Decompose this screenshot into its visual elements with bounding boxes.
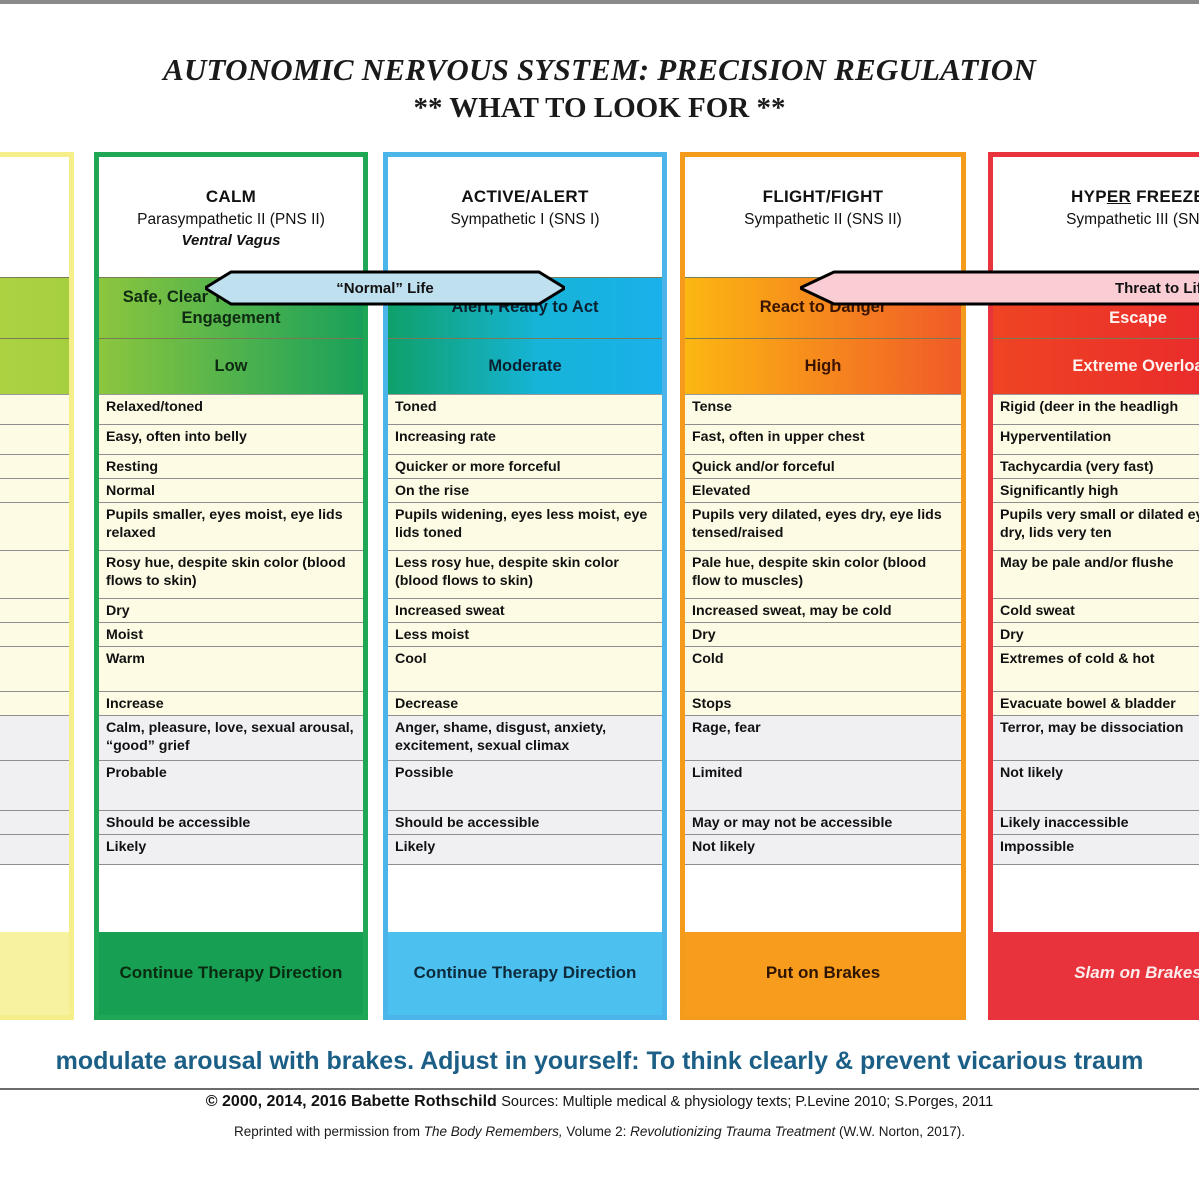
page-title: AUTONOMIC NERVOUS SYSTEM: PRECISION REGU… (0, 52, 1199, 125)
table-cell: Quicker or more forceful (388, 455, 662, 479)
table-cell: Pupils smaller, eyes moist, eye lids rel… (99, 503, 363, 551)
rows-active-alert: Toned Increasing rate Quicker or more fo… (388, 395, 662, 865)
column-subtitle-calm: Parasympathetic II (PNS II) (99, 211, 363, 229)
table-cell: Not likely (993, 761, 1199, 811)
column-italic-calm: Ventral Vagus (99, 232, 363, 249)
column-pns1[interactable]: PNS I) ion e heavy isgust sible nergy (0, 152, 74, 1020)
table-cell: On the rise (388, 479, 662, 503)
arousal-band-active-alert: Moderate (388, 339, 662, 395)
column-title-flight-fight: FLIGHT/FIGHT (685, 187, 961, 207)
table-cell: Warm (99, 647, 363, 692)
column-header-active-alert: ACTIVE/ALERT Sympathetic I (SNS I) (388, 157, 662, 277)
table-cell: e heavy (0, 503, 69, 551)
table-cell: May or may not be accessible (685, 811, 961, 835)
sources-text: Sources: Multiple medical & physiology t… (501, 1094, 993, 1110)
table-cell: Evacuate bowel & bladder (993, 692, 1199, 716)
table-cell: Normal (99, 479, 363, 503)
normal-life-arrow: “Normal” Life (205, 268, 565, 308)
column-title-active-alert: ACTIVE/ALERT (388, 187, 662, 207)
table-cell (0, 761, 69, 811)
table-cell: Tense (685, 395, 961, 425)
reprint-post: (W.W. Norton, 2017). (835, 1124, 965, 1139)
table-cell (0, 425, 69, 455)
table-cell: Elevated (685, 479, 961, 503)
table-cell: Rigid (deer in the headligh (993, 395, 1199, 425)
table-cell: Impossible (993, 835, 1199, 865)
column-subtitle-flight-fight: Sympathetic II (SNS II) (685, 211, 961, 229)
table-cell: Quick and/or forceful (685, 455, 961, 479)
table-cell: Less rosy hue, despite skin color (blood… (388, 551, 662, 599)
rows-hyper-freeze: Rigid (deer in the headligh Hyperventila… (993, 395, 1199, 865)
table-cell (0, 479, 69, 503)
threat-to-life-label: Threat to Life (800, 280, 1199, 297)
table-cell: Calm, pleasure, love, sexual arousal, “g… (99, 716, 363, 761)
table-cell: Cold sweat (993, 599, 1199, 623)
goal-line-2: Escape (1071, 308, 1199, 329)
table-cell: Likely (388, 835, 662, 865)
top-divider (0, 0, 1199, 4)
column-subtitle-active-alert: Sympathetic I (SNS I) (388, 211, 662, 229)
table-cell (0, 551, 69, 599)
normal-life-label: “Normal” Life (205, 280, 565, 297)
table-cell: Not likely (685, 835, 961, 865)
table-cell: Increase (99, 692, 363, 716)
table-cell: Cool (388, 647, 662, 692)
table-cell: Dry (685, 623, 961, 647)
column-header-calm: CALM Parasympathetic II (PNS II) Ventral… (99, 157, 363, 277)
table-cell: Stops (685, 692, 961, 716)
table-cell (0, 623, 69, 647)
table-cell: Rosy hue, despite skin color (blood flow… (99, 551, 363, 599)
title-line-1: AUTONOMIC NERVOUS SYSTEM: PRECISION REGU… (0, 52, 1199, 88)
table-cell: Dry (99, 599, 363, 623)
column-subtitle-hyper-freeze: Sympathetic III (SNS (993, 211, 1199, 229)
reprint-mid: Volume 2: (563, 1124, 631, 1139)
table-cell: May be pale and/or flushe (993, 551, 1199, 599)
column-subtitle-pns1: PNS I) (0, 191, 69, 209)
table-cell (0, 647, 69, 692)
rows-flight-fight: Tense Fast, often in upper chest Quick a… (685, 395, 961, 865)
table-cell: Pale hue, despite skin color (blood flow… (685, 551, 961, 599)
threat-to-life-arrow: Threat to Life (800, 268, 1199, 308)
table-cell: Dry (993, 623, 1199, 647)
footer-hyper-freeze: Slam on Brakes (993, 932, 1199, 1015)
table-cell: Likely (99, 835, 363, 865)
table-cell (0, 395, 69, 425)
reprint-subtitle: Revolutionizing Trauma Treatment (630, 1124, 835, 1139)
table-cell: Hyperventilation (993, 425, 1199, 455)
table-cell: Should be accessible (388, 811, 662, 835)
arousal-band-flight-fight: High (685, 339, 961, 395)
table-cell: Rage, fear (685, 716, 961, 761)
arousal-band-hyper-freeze: Extreme Overloa (993, 339, 1199, 395)
reprint-line: Reprinted with permission from The Body … (0, 1124, 1199, 1139)
table-cell: Terror, may be dissociation (993, 716, 1199, 761)
table-cell: Pupils widening, eyes less moist, eye li… (388, 503, 662, 551)
table-cell (0, 599, 69, 623)
column-header-flight-fight: FLIGHT/FIGHT Sympathetic II (SNS II) (685, 157, 961, 277)
reprint-book-title: The Body Remembers, (424, 1124, 563, 1139)
footer-active-alert: Continue Therapy Direction (388, 932, 662, 1015)
table-cell (0, 835, 69, 865)
footer-divider (0, 1088, 1199, 1090)
column-title-calm: CALM (99, 187, 363, 207)
adjust-arousal-line: modulate arousal with brakes. Adjust in … (0, 1047, 1199, 1076)
table-cell: Extremes of cold & hot (993, 647, 1199, 692)
rows-calm: Relaxed/toned Easy, often into belly Res… (99, 395, 363, 865)
table-cell: Increased sweat, may be cold (685, 599, 961, 623)
table-cell: Easy, often into belly (99, 425, 363, 455)
reprint-pre: Reprinted with permission from (234, 1124, 424, 1139)
table-cell: sible (0, 811, 69, 835)
table-cell: Cold (685, 647, 961, 692)
table-cell: Increased sweat (388, 599, 662, 623)
footer-calm: Continue Therapy Direction (99, 932, 363, 1015)
table-cell: Decrease (388, 692, 662, 716)
column-header-hyper-freeze: HYPER FREEZE Sympathetic III (SNS (993, 157, 1199, 277)
table-cell: Increasing rate (388, 425, 662, 455)
table-cell: Likely inaccessible (993, 811, 1199, 835)
column-header-pns1: PNS I) (0, 157, 69, 277)
footer-flight-fight: Put on Brakes (685, 932, 961, 1015)
table-cell: Possible (388, 761, 662, 811)
table-cell: Less moist (388, 623, 662, 647)
title-line-2: ** WHAT TO LOOK FOR ** (0, 92, 1199, 125)
table-cell: Significantly high (993, 479, 1199, 503)
table-cell: Limited (685, 761, 961, 811)
table-cell: Toned (388, 395, 662, 425)
copyright-line: © 2000, 2014, 2016 Babette Rothschild So… (0, 1093, 1199, 1111)
table-cell: Probable (99, 761, 363, 811)
copyright-text: © 2000, 2014, 2016 Babette Rothschild (206, 1093, 497, 1110)
arousal-band-pns1 (0, 339, 69, 395)
table-cell: Tachycardia (very fast) (993, 455, 1199, 479)
table-cell: Resting (99, 455, 363, 479)
table-cell: isgust (0, 716, 69, 761)
table-cell: Pupils very small or dilated eyes very d… (993, 503, 1199, 551)
goal-band-pns1: ion (0, 277, 69, 339)
table-cell: Moist (99, 623, 363, 647)
table-cell: Relaxed/toned (99, 395, 363, 425)
table-cell: Pupils very dilated, eyes dry, eye lids … (685, 503, 961, 551)
footer-pns1: nergy (0, 932, 69, 1015)
table-cell: Should be accessible (99, 811, 363, 835)
table-cell: Anger, shame, disgust, anxiety, exciteme… (388, 716, 662, 761)
arousal-band-calm: Low (99, 339, 363, 395)
rows-pns1: e heavy isgust sible (0, 395, 69, 865)
table-cell: Fast, often in upper chest (685, 425, 961, 455)
table-cell (0, 692, 69, 716)
column-title-hyper-freeze: HYPER FREEZE (993, 187, 1199, 207)
table-cell (0, 455, 69, 479)
